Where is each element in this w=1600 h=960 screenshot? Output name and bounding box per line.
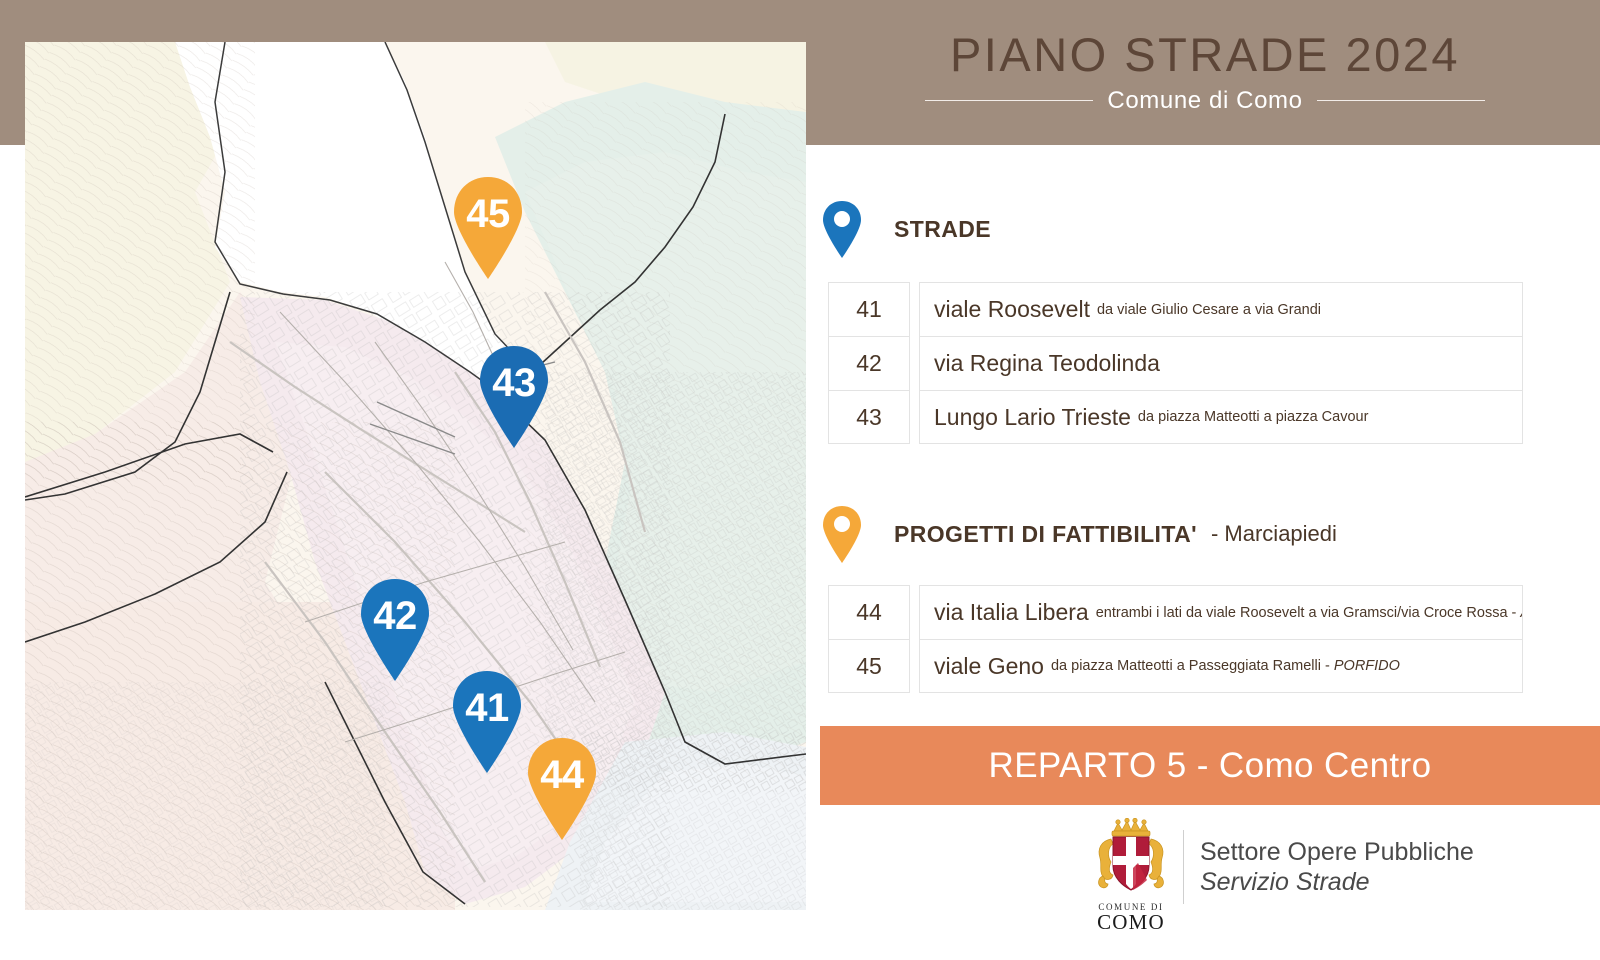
header-subtitle-row: Comune di Como (925, 87, 1485, 115)
map-pin-icon (820, 505, 864, 563)
street-name: viale Roosevelt (934, 296, 1090, 323)
street-material: ASFALTO (1520, 605, 1523, 621)
row-number: 42 (828, 336, 910, 390)
street-material: PORFIDO (1334, 658, 1400, 674)
street-name: viale Geno (934, 653, 1044, 680)
legend-title-fattibilita: PROGETTI DI FATTIBILITA' (894, 521, 1197, 548)
table-fattibilita: 44 via Italia Libera entrambi i lati da … (828, 585, 1523, 693)
street-detail: da piazza Matteotti a Passeggiata Ramell… (1051, 658, 1400, 674)
row-name: viale Roosevelt da viale Giulio Cesare a… (919, 282, 1523, 336)
table-row[interactable]: 42 via Regina Teodolinda (828, 336, 1523, 390)
map-marker-label: 44 (523, 736, 601, 814)
street-name: via Italia Libera (934, 599, 1089, 626)
table-row[interactable]: 45 viale Geno da piazza Matteotti a Pass… (828, 639, 1523, 693)
row-number: 43 (828, 390, 910, 444)
reparto-banner-label: REPARTO 5 - Como Centro (989, 746, 1432, 786)
row-number: 41 (828, 282, 910, 336)
header-subtitle: Comune di Como (1107, 87, 1302, 115)
row-name: Lungo Lario Trieste da piazza Matteotti … (919, 390, 1523, 444)
row-number: 44 (828, 585, 910, 639)
row-number: 45 (828, 639, 910, 693)
map-pin-icon (820, 200, 864, 258)
footer-department: Settore Opere Pubbliche Servizio Strade (1200, 838, 1474, 913)
map-marker-42[interactable]: 42 (356, 577, 434, 681)
legend-pin-strade (820, 200, 864, 258)
footer-line-1: Settore Opere Pubbliche (1200, 838, 1474, 868)
map-marker-label: 45 (449, 175, 527, 253)
table-row[interactable]: 44 via Italia Libera entrambi i lati da … (828, 585, 1523, 639)
reparto-banner: REPARTO 5 - Como Centro (820, 726, 1600, 805)
map-marker-43[interactable]: 43 (475, 344, 553, 448)
legend-group-header-strade: STRADE (820, 200, 991, 258)
street-detail: entrambi i lati da viale Roosevelt a via… (1096, 605, 1523, 621)
coat-of-arms-icon (1085, 818, 1177, 896)
map-canvas[interactable]: 45 43 42 41 44 (25, 42, 806, 910)
poster-root: PIANO STRADE 2024 Comune di Como (0, 0, 1600, 960)
map-graphic (25, 42, 806, 910)
table-row[interactable]: 43 Lungo Lario Trieste da piazza Matteot… (828, 390, 1523, 444)
footer-line-2: Servizio Strade (1200, 868, 1474, 898)
map-marker-label: 43 (475, 344, 553, 422)
page-title: PIANO STRADE 2024 (950, 31, 1460, 78)
table-strade: 41 viale Roosevelt da viale Giulio Cesar… (828, 282, 1523, 444)
legend-group-header-fattibilita: PROGETTI DI FATTIBILITA' - Marciapiedi (820, 505, 1337, 563)
legend-pin-fattibilita (820, 505, 864, 563)
row-name: viale Geno da piazza Matteotti a Passegg… (919, 639, 1523, 693)
row-name: via Regina Teodolinda (919, 336, 1523, 390)
logo-divider (1183, 830, 1184, 904)
street-detail: da piazza Matteotti a piazza Cavour (1138, 409, 1369, 425)
rule-right (1317, 100, 1485, 101)
header-title-block: PIANO STRADE 2024 Comune di Como (810, 0, 1600, 145)
map-marker-label: 42 (356, 577, 434, 655)
street-name: Lungo Lario Trieste (934, 404, 1131, 431)
row-name: via Italia Libera entrambi i lati da via… (919, 585, 1523, 639)
street-name: via Regina Teodolinda (934, 350, 1160, 377)
footer-logo-block: COMUNE DI COMO Settore Opere Pubbliche S… (1085, 818, 1474, 933)
rule-left (925, 100, 1093, 101)
comune-di-como-crest: COMUNE DI COMO (1085, 818, 1177, 933)
map-marker-44[interactable]: 44 (523, 736, 601, 840)
map-marker-label: 41 (448, 669, 526, 747)
legend-title-fattibilita-sub: - Marciapiedi (1211, 521, 1337, 547)
crest-line-2: COMO (1085, 912, 1177, 933)
legend-title-strade: STRADE (894, 216, 991, 243)
map-marker-41[interactable]: 41 (448, 669, 526, 773)
street-detail: da viale Giulio Cesare a via Grandi (1097, 302, 1321, 318)
table-row[interactable]: 41 viale Roosevelt da viale Giulio Cesar… (828, 282, 1523, 336)
map-marker-45[interactable]: 45 (449, 175, 527, 279)
